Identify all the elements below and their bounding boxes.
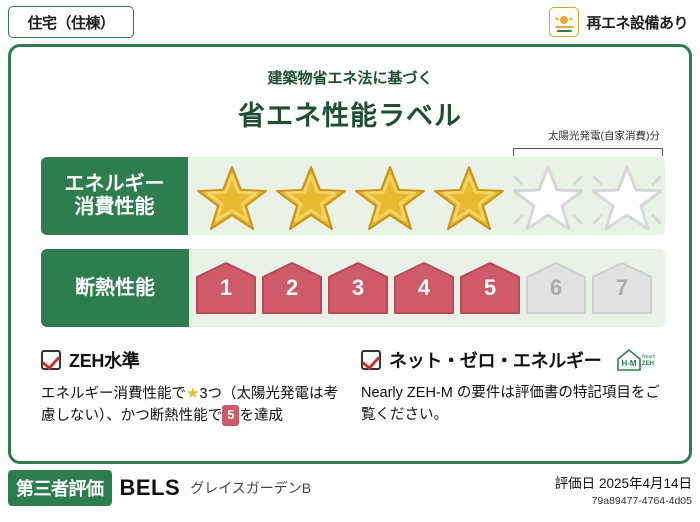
insulation-levels: 1 2 3 4 5 6 7: [189, 249, 665, 327]
building-type-label: 住宅（住棟）: [27, 12, 114, 33]
insulation-level-1: 1: [195, 261, 257, 315]
renewable-label: 再エネ設備あり: [586, 12, 688, 33]
energy-performance-body: 太陽光発電(自家消費)分: [188, 157, 665, 235]
sun-energy-icon: [549, 7, 579, 37]
footer-right: 評価日 2025年4月14日 79a89477-4764-4d05: [555, 472, 692, 507]
star-filled-icon: [273, 159, 349, 233]
footer-left: 第三者評価 BELS グレイスガーデンB: [8, 470, 311, 506]
third-party-badge: 第三者評価: [8, 470, 112, 506]
insulation-level-3: 3: [327, 261, 389, 315]
evaluation-date: 評価日 2025年4月14日: [555, 472, 692, 492]
check-section: ZEH水準 エネルギー消費性能で★3つ（太陽光発電は考慮しない）、かつ断熱性能で…: [41, 347, 669, 428]
star-filled-icon: [194, 159, 270, 233]
netzero-check-body: Nearly ZEH-M の要件は評価書の特記項目をご覧ください。: [361, 382, 669, 427]
zeh-check-block: ZEH水準 エネルギー消費性能で★3つ（太陽光発電は考慮しない）、かつ断熱性能で…: [41, 347, 341, 428]
pv-bracket: [513, 148, 663, 156]
star-filled-icon: [431, 159, 507, 233]
checkbox-checked-icon: [41, 350, 61, 370]
insulation-level-5: 5: [459, 261, 521, 315]
energy-performance-label: エネルギー 消費性能: [41, 157, 188, 235]
energy-performance-row: エネルギー 消費性能 太陽光発電(自家消費)分: [41, 157, 665, 235]
insulation-performance-row: 断熱性能 1 2 3 4 5 6 7: [41, 249, 665, 327]
insulation-level-4: 4: [393, 261, 455, 315]
zeh-check-head: ZEH水準: [41, 347, 341, 373]
renewable-badge: 再エネ設備あり: [549, 6, 688, 38]
svg-text:ZEH: ZEH: [642, 361, 654, 367]
inline-star-icon: ★: [186, 385, 199, 402]
star-rating: [188, 157, 665, 235]
svg-text:H-M: H-M: [622, 359, 637, 368]
energy-label-document: 住宅（住棟） 再エネ設備あり 建築物省エネ法に基づく 省エネ性能ラベル エネルギ…: [0, 0, 700, 522]
insulation-level-7: 7: [591, 261, 653, 315]
zeh-check-title: ZEH水準: [69, 347, 140, 373]
netzero-check-title: ネット・ゼロ・エネルギー: [389, 347, 601, 373]
pv-note: 太陽光発電(自家消費)分: [545, 127, 663, 144]
rating-rows: エネルギー 消費性能 太陽光発電(自家消費)分: [41, 157, 665, 341]
checkbox-checked-icon: [361, 350, 381, 370]
label-card: 建築物省エネ法に基づく 省エネ性能ラベル エネルギー 消費性能 太陽光発電(自家…: [8, 44, 692, 464]
netzero-check-head: ネット・ゼロ・エネルギー H-M Nearly ZEH: [361, 347, 669, 373]
evaluation-id: 79a89477-4764-4d05: [555, 495, 692, 507]
zeh-house-icon: H-M Nearly ZEH: [615, 347, 655, 373]
property-name: グレイスガーデンB: [190, 478, 311, 498]
bels-logo: BELS: [120, 475, 181, 501]
zeh-check-body: エネルギー消費性能で★3つ（太陽光発電は考慮しない）、かつ断熱性能で5を達成: [41, 382, 341, 428]
insulation-level-2: 2: [261, 261, 323, 315]
svg-text:Nearly: Nearly: [642, 354, 655, 360]
insulation-level-6: 6: [525, 261, 587, 315]
footer: 第三者評価 BELS グレイスガーデンB 評価日 2025年4月14日 79a8…: [8, 470, 692, 514]
insulation-performance-body: 1 2 3 4 5 6 7: [189, 249, 665, 327]
star-outline-icon: [510, 159, 586, 233]
card-subtitle: 建築物省エネ法に基づく: [11, 67, 689, 88]
star-filled-icon: [352, 159, 428, 233]
inline-level-badge: 5: [222, 405, 239, 425]
building-type-badge: 住宅（住棟）: [8, 6, 134, 38]
netzero-check-block: ネット・ゼロ・エネルギー H-M Nearly ZEH Nearly ZEH-M…: [361, 347, 669, 428]
star-outline-icon: [589, 159, 665, 233]
insulation-performance-label: 断熱性能: [41, 249, 189, 327]
